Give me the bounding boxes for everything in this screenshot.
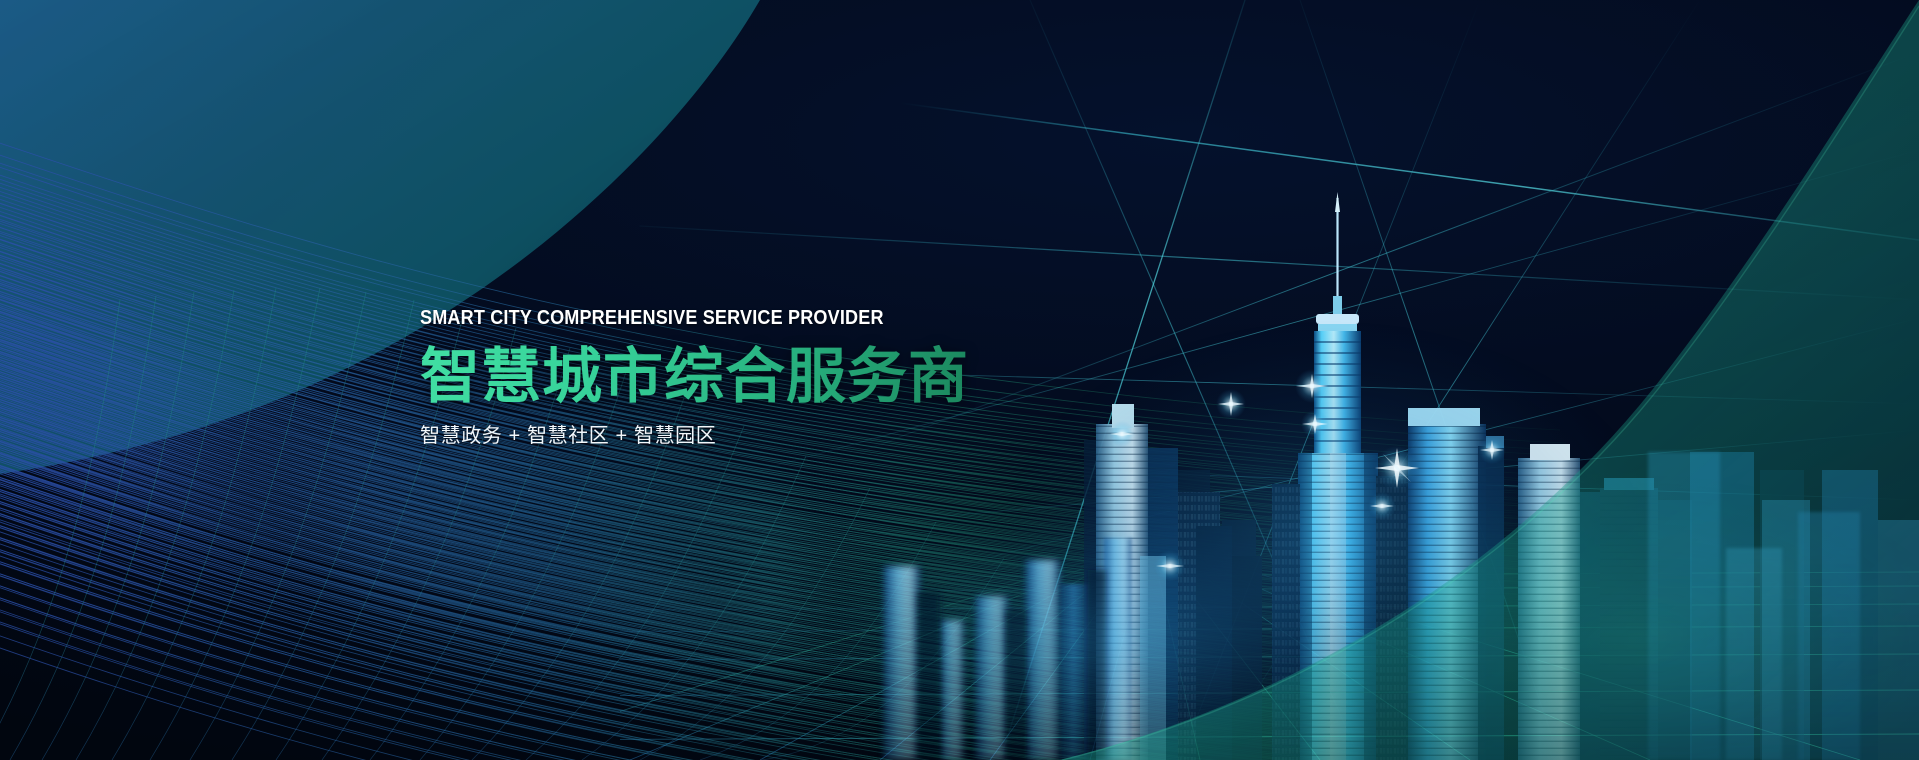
eyebrow-tagline: SMART CITY COMPREHENSIVE SERVICE PROVIDE… xyxy=(420,308,983,329)
page-title: 智慧城市综合服务商 xyxy=(420,345,1060,409)
hero-text-block: SMART CITY COMPREHENSIVE SERVICE PROVIDE… xyxy=(420,308,1060,446)
smart-city-banner: SMART CITY COMPREHENSIVE SERVICE PROVIDE… xyxy=(0,0,1919,760)
subtitle: 智慧政务 + 智慧社区 + 智慧园区 xyxy=(420,426,1060,446)
